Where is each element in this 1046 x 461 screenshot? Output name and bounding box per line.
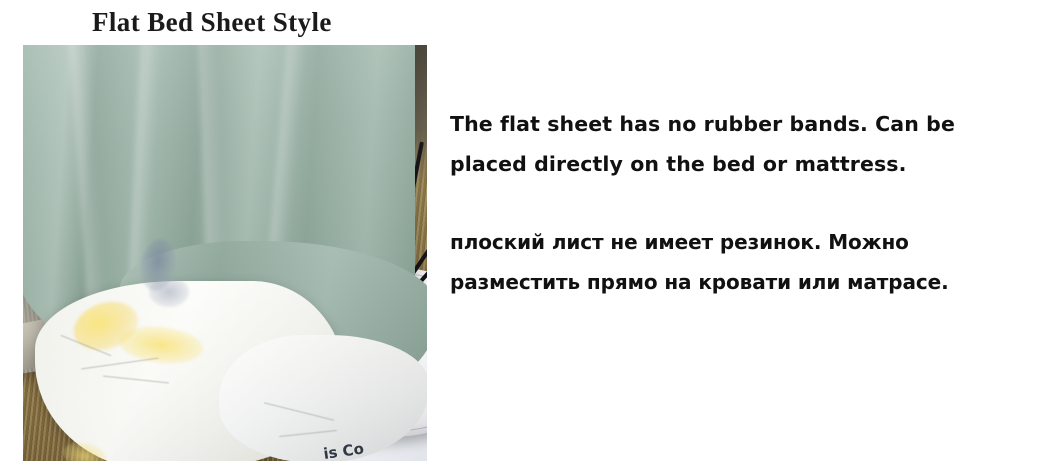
photo-stage: is Co [23, 45, 427, 461]
blue-printed-motif [149, 277, 189, 307]
product-photo: is Co [23, 45, 427, 461]
description-block: The flat sheet has no rubber bands. Can … [450, 104, 1025, 302]
page-title: Flat Bed Sheet Style [92, 8, 332, 38]
sheet-fold [69, 45, 108, 333]
description-english: The flat sheet has no rubber bands. Can … [450, 104, 1025, 184]
description-russian: плоский лист не имеет резинок. Можно раз… [450, 222, 1025, 302]
